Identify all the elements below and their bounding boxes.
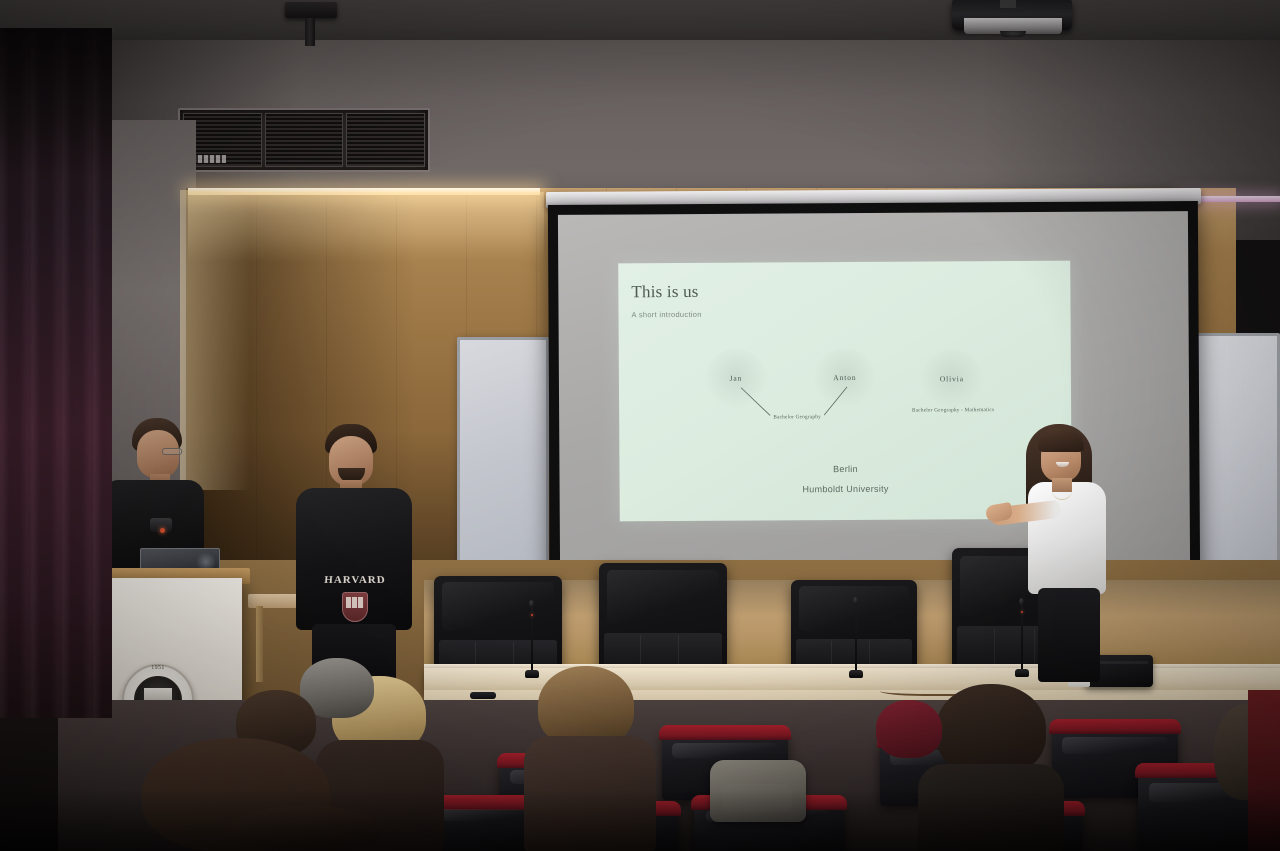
- microphone-head: [853, 597, 858, 604]
- clicker-led-icon: [160, 528, 165, 533]
- slide-person-desc-olivia: Bachelor Geography - Mathematics: [908, 407, 998, 415]
- harvard-shield-books-icon: [346, 597, 364, 608]
- presenter-middle-torso: HARVARD UNIVERSITY: [296, 488, 412, 630]
- whiteboard-left: [457, 337, 549, 577]
- vent-panel: [265, 113, 344, 167]
- audience-member-head: [876, 700, 942, 758]
- curtain-left-top-shadow: [0, 28, 112, 178]
- microphone-head: [529, 600, 534, 607]
- audience-member-head: [232, 806, 382, 851]
- presentation-remote[interactable]: [470, 692, 496, 699]
- presenter-middle: HARVARD UNIVERSITY: [294, 424, 416, 690]
- seat-highlight: [1062, 737, 1168, 753]
- ceiling-light-fixture: [285, 2, 337, 18]
- seat-highlight: [429, 809, 540, 820]
- microphone-base[interactable]: [525, 670, 539, 678]
- presenter-right-torso: [1028, 482, 1106, 594]
- glasses-icon: [162, 448, 182, 455]
- chair-sheen: [799, 586, 910, 631]
- vent-panel: [346, 113, 425, 167]
- chair-sheen: [607, 570, 720, 623]
- crest-year: 1951: [122, 665, 194, 671]
- seat-highlight: [672, 743, 778, 758]
- ceiling-fixture-arm: [305, 18, 315, 46]
- panel-chair[interactable]: [599, 563, 727, 679]
- curtain-right: [1248, 690, 1280, 851]
- audience-member-head: [936, 684, 1046, 776]
- presenter-right: [986, 420, 1118, 682]
- audience-member-body: [524, 736, 656, 851]
- audience-member-body: [918, 764, 1064, 851]
- backpack-pocket: [722, 784, 792, 812]
- lecture-hall-scene: PROJECTOR This is us A short introductio…: [0, 0, 1280, 851]
- side-table-leg: [256, 606, 263, 682]
- presenter-right-hair-front: [1038, 428, 1084, 452]
- projector-mount: [1000, 0, 1016, 8]
- microphone-led-icon: [531, 614, 533, 616]
- chair-sheen: [442, 582, 555, 631]
- harvard-wordmark: HARVARD: [314, 574, 395, 586]
- projector-lens-icon: [1000, 31, 1026, 37]
- presenter-right-legs: [1038, 588, 1100, 682]
- slide-person-desc-shared: Bachelor Geography: [752, 414, 842, 422]
- microphone-base[interactable]: [849, 670, 863, 678]
- microphone-rod: [855, 602, 857, 676]
